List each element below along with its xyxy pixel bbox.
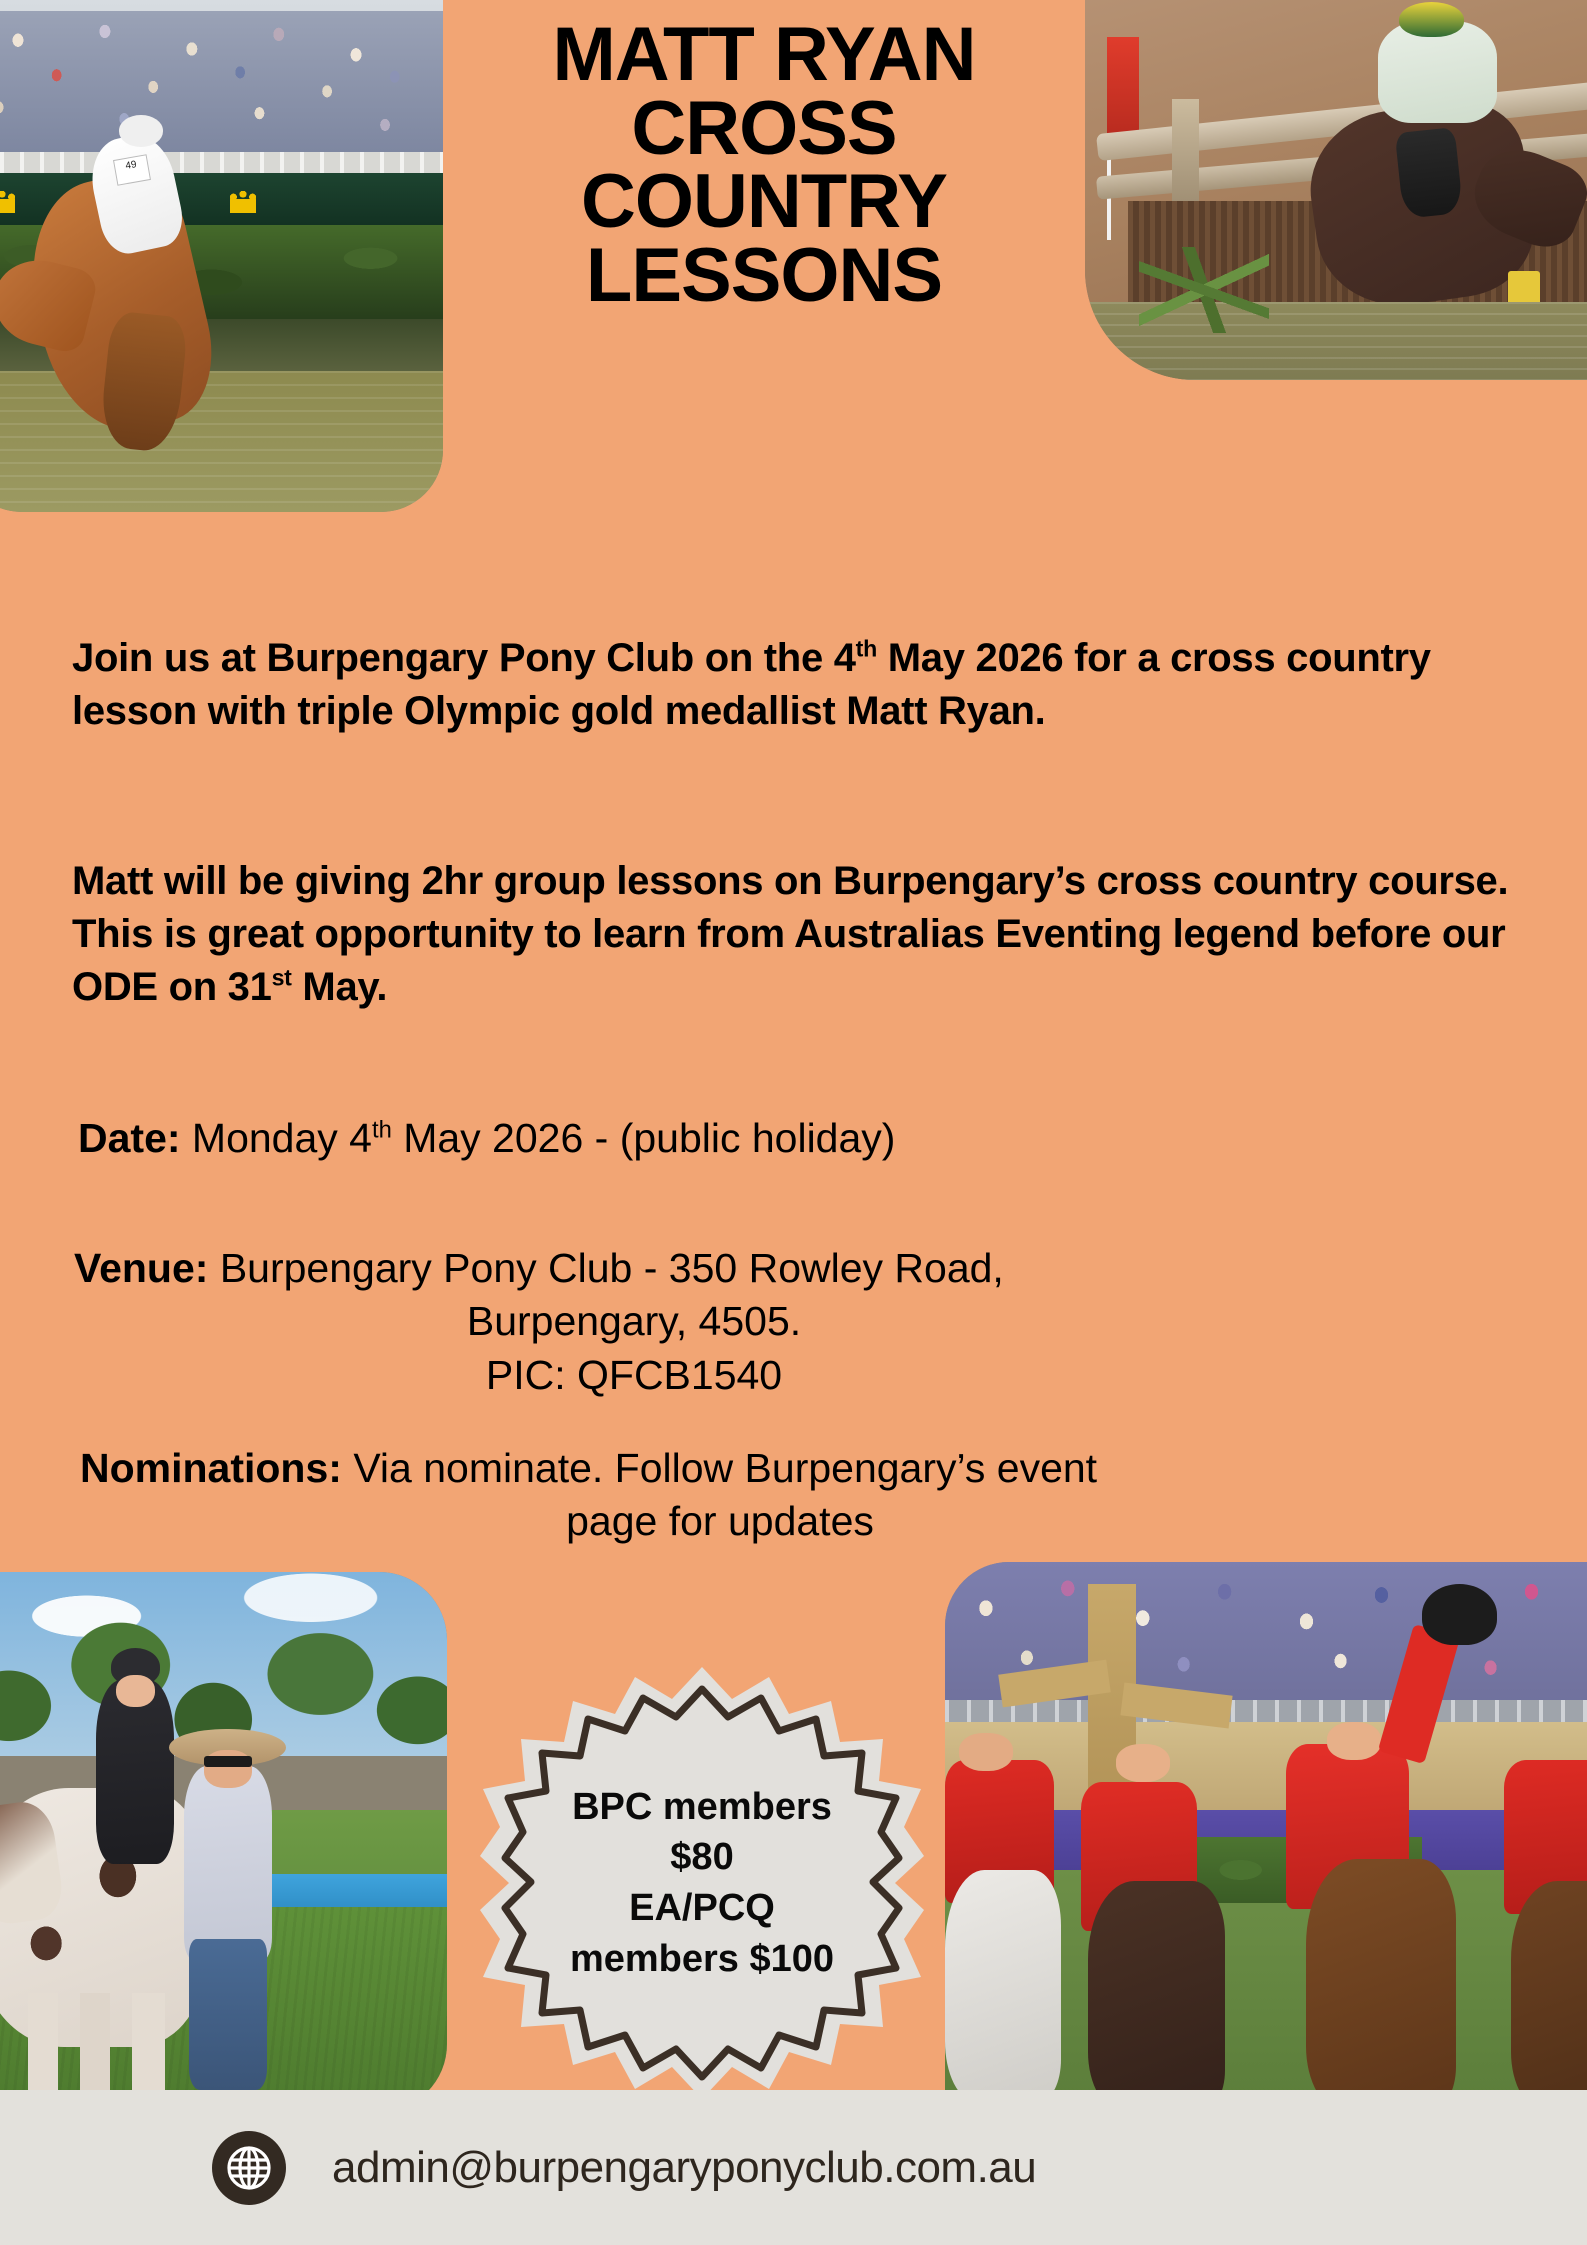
photo-crowd xyxy=(0,11,443,157)
ordinal-suffix-th: th xyxy=(856,636,877,662)
title-line-1: MATT RYAN xyxy=(443,18,1085,92)
venue-row: Venue: Burpengary Pony Club - 350 Rowley… xyxy=(74,1242,1194,1402)
ordinal-suffix-th: th xyxy=(372,1116,392,1143)
title-line-4: LESSONS xyxy=(443,239,1085,313)
rolex-crown-icon xyxy=(230,191,256,213)
photo-rider-face xyxy=(1116,1744,1171,1783)
photo-rider-face xyxy=(959,1733,1014,1772)
venue-label: Venue: xyxy=(74,1245,208,1291)
intro-text-a: Join us at Burpengary Pony Club on the 4 xyxy=(72,636,856,680)
price-line-2: $80 xyxy=(670,1833,733,1882)
photo-rail xyxy=(0,152,443,173)
venue-line-3: PIC: QFCB1540 xyxy=(74,1349,1194,1402)
photo-jump-post xyxy=(1172,99,1199,208)
page-title: MATT RYAN CROSS COUNTRY LESSONS xyxy=(443,18,1085,313)
photo-rider-boot xyxy=(1395,128,1463,220)
nominations-line-1: Via nominate. Follow Burpengary’s event xyxy=(342,1445,1097,1491)
photo-coach-shirt xyxy=(184,1766,272,1960)
date-value-b: May 2026 - (public holiday) xyxy=(392,1115,896,1161)
date-row: Date: Monday 4th May 2026 - (public holi… xyxy=(78,1112,895,1165)
nominations-line-2: page for updates xyxy=(80,1495,1360,1548)
photo-coach-sunglasses xyxy=(204,1756,253,1768)
footer-bar: admin@burpengaryponyclub.com.au xyxy=(0,2090,1587,2245)
photo-rider-face xyxy=(116,1675,155,1707)
date-value-a: Monday 4 xyxy=(181,1115,372,1161)
medal-ceremony-photo xyxy=(945,1562,1587,2112)
photo-young-rider xyxy=(96,1680,174,1864)
price-line-1: BPC members xyxy=(572,1783,832,1832)
log-jump-water-photo xyxy=(1085,0,1587,380)
venue-line-2: Burpengary, 4505. xyxy=(74,1295,1194,1348)
nominations-label: Nominations: xyxy=(80,1445,342,1491)
intro-paragraph: Join us at Burpengary Pony Club on the 4… xyxy=(72,632,1522,738)
poster-canvas: ROLEX 49 MATT RYAN CROSS COUNTRY LESSONS xyxy=(0,0,1587,2245)
price-line-3: EA/PCQ xyxy=(629,1884,775,1933)
photo-rider-face xyxy=(1327,1722,1382,1761)
nominations-row: Nominations: Via nominate. Follow Burpen… xyxy=(80,1442,1480,1549)
photo-rider-helmet xyxy=(1399,2,1464,37)
title-line-3: COUNTRY xyxy=(443,165,1085,239)
photo-horse xyxy=(1511,1881,1587,2112)
rolex-crown-icon xyxy=(0,191,15,213)
title-line-2: CROSS xyxy=(443,92,1085,166)
contact-email[interactable]: admin@burpengaryponyclub.com.au xyxy=(332,2143,1036,2193)
ordinal-suffix-st: st xyxy=(272,964,292,990)
rider-and-coach-photo xyxy=(0,1572,447,2112)
photo-horse xyxy=(1088,1881,1224,2112)
globe-icon xyxy=(212,2131,286,2205)
rolex-water-jump-photo: ROLEX 49 xyxy=(0,0,443,512)
date-label: Date: xyxy=(78,1115,181,1161)
photo-reeds xyxy=(1139,247,1269,333)
lesson-text-b: May. xyxy=(292,965,388,1009)
venue-line-1: Burpengary Pony Club - 350 Rowley Road, xyxy=(208,1245,1003,1291)
price-badge: BPC members $80 EA/PCQ members $100 xyxy=(476,1663,928,2103)
photo-raised-helmet xyxy=(1422,1584,1497,1645)
photo-rider-helmet xyxy=(119,115,162,146)
price-line-4: members $100 xyxy=(570,1935,834,1984)
photo-coach-jeans xyxy=(189,1939,267,2090)
price-badge-text: BPC members $80 EA/PCQ members $100 xyxy=(476,1663,928,2103)
photo-horse xyxy=(1306,1859,1456,2112)
photo-horse xyxy=(945,1870,1061,2101)
photo-pony-legs xyxy=(28,1993,164,2101)
photo-red-flag xyxy=(1107,37,1140,138)
lesson-paragraph: Matt will be giving 2hr group lessons on… xyxy=(72,855,1512,1013)
